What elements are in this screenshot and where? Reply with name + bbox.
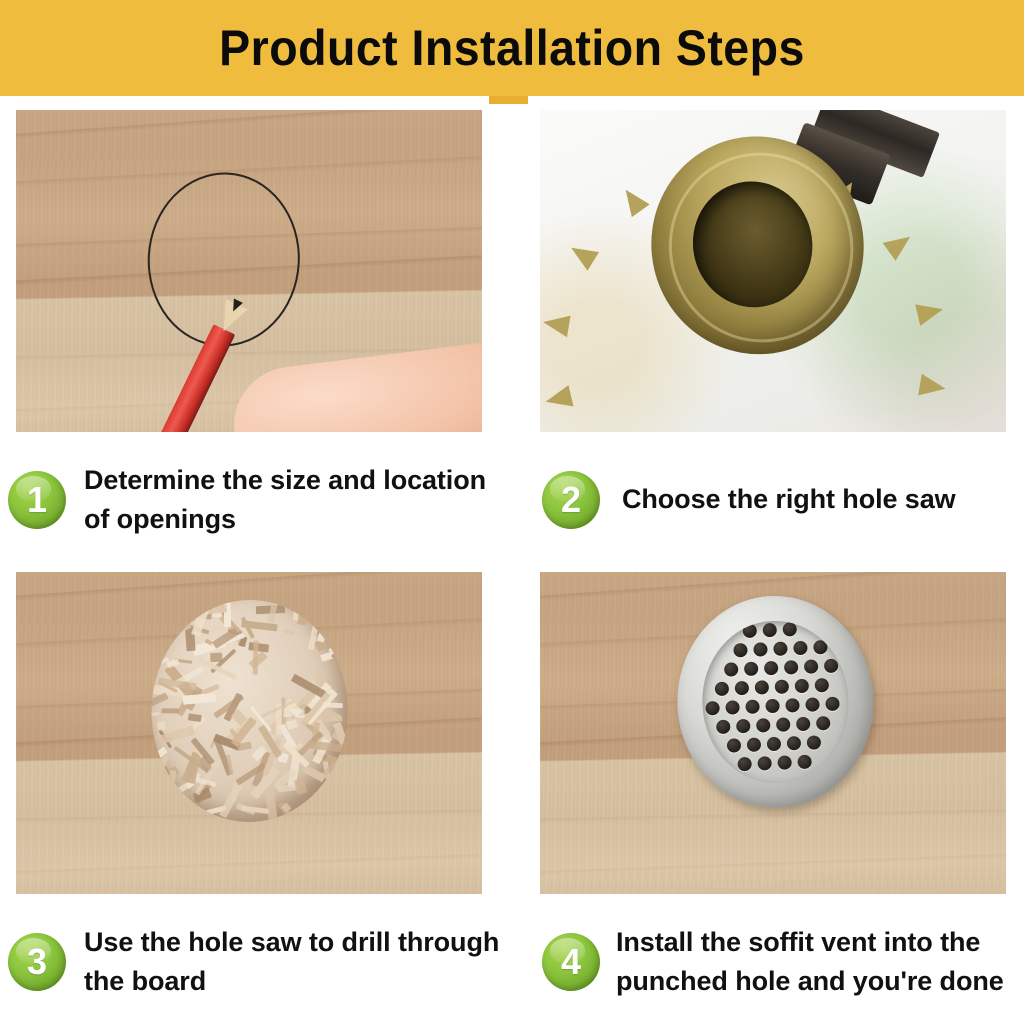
vent-perforation [767, 737, 782, 752]
step-number-1: 1 [27, 482, 47, 518]
step-number-2: 2 [561, 482, 581, 518]
vent-perforation [747, 738, 762, 753]
vent-perforation [775, 680, 790, 695]
step-2-photo [540, 110, 1006, 432]
vent-perforation [783, 623, 798, 638]
vent-perforation [815, 678, 830, 693]
step-number-badge-2: 2 [542, 471, 600, 529]
step-4-photo [540, 572, 1006, 894]
vent-perforation [737, 719, 752, 734]
vent-perforation [826, 697, 841, 712]
vent-perforation [726, 701, 741, 716]
photo-installed-vent [540, 572, 1006, 894]
vent-perforation [717, 720, 732, 735]
vent-perforation [786, 698, 801, 713]
photo-drilled-hole [16, 572, 482, 894]
step-number-badge-1: 1 [8, 471, 66, 529]
step-number-badge-4: 4 [542, 933, 600, 991]
vent-perforation [743, 624, 758, 639]
page-title: Product Installation Steps [36, 0, 988, 96]
step-card-1: 1 Determine the size and location of ope… [0, 96, 512, 558]
vent-perforation [806, 698, 821, 713]
vent-perforation [766, 699, 781, 714]
vent-perforation [787, 736, 802, 751]
vent-perforation [754, 643, 769, 658]
vent-perforation [776, 718, 791, 733]
vent-perforation [724, 663, 739, 678]
vent-perforation [778, 756, 793, 771]
photo-hole-saw [540, 110, 1006, 432]
vent-perforation [744, 662, 759, 677]
vent-perforation [816, 716, 831, 731]
wood-chip [161, 708, 178, 713]
step-1-caption: 1 Determine the size and location of ope… [8, 448, 508, 552]
vent-perforation [706, 701, 721, 716]
vent-grille [700, 619, 851, 785]
vent-perforation [796, 717, 811, 732]
vent-perforation [794, 641, 809, 656]
step-card-4: 4 Install the soffit vent into the punch… [512, 558, 1024, 1020]
vent-perforation [807, 736, 822, 751]
wood-chip [157, 721, 166, 731]
vent-perforation [756, 719, 771, 734]
vent-perforation [774, 642, 789, 657]
photo-marking-the-board [16, 110, 482, 432]
vent-perforation [715, 682, 730, 697]
wood-chip [286, 719, 298, 730]
wood-chip [264, 786, 278, 825]
step-2-text: Choose the right hole saw [622, 480, 956, 519]
step-3-caption: 3 Use the hole saw to drill through the … [8, 910, 508, 1014]
vent-perforation [734, 643, 749, 658]
header-banner: Product Installation Steps [0, 0, 1024, 96]
wood-chip [249, 651, 268, 669]
wood-chip [298, 613, 308, 625]
vent-perforation [738, 757, 753, 772]
wood-chip [183, 693, 216, 704]
step-card-3: 3 Use the hole saw to drill through the … [0, 558, 512, 1020]
step-1-text: Determine the size and location of openi… [84, 461, 508, 539]
step-number-4: 4 [561, 944, 581, 980]
step-4-text: Install the soffit vent into the punched… [616, 923, 1024, 1001]
step-3-photo [16, 572, 482, 894]
vent-perforation [784, 661, 799, 676]
vent-perforation [764, 661, 779, 676]
wood-chip [148, 751, 158, 756]
step-4-caption: 4 Install the soffit vent into the punch… [542, 910, 1024, 1014]
step-number-3: 3 [27, 944, 47, 980]
vent-perforation [798, 755, 813, 770]
vent-perforation [814, 640, 829, 655]
step-2-caption: 2 Choose the right hole saw [542, 448, 1024, 552]
installation-steps-grid: 1 Determine the size and location of ope… [0, 96, 1024, 1020]
wood-chip [235, 803, 255, 815]
saw-tooth [918, 374, 947, 400]
vent-perforation [758, 757, 773, 772]
step-3-text: Use the hole saw to drill through the bo… [84, 923, 508, 1001]
saw-tooth [541, 311, 570, 337]
step-card-2: 2 Choose the right hole saw [512, 96, 1024, 558]
vent-perforation [804, 660, 819, 675]
vent-perforation [824, 659, 839, 674]
wood-chip [294, 778, 307, 795]
vent-perforation [746, 700, 761, 715]
step-1-photo [16, 110, 482, 432]
vent-perforation [755, 681, 770, 696]
vent-perforation [795, 679, 810, 694]
wood-chip [219, 783, 242, 819]
wood-chip [284, 628, 295, 635]
vent-perforation [763, 623, 778, 638]
step-number-badge-3: 3 [8, 933, 66, 991]
drilled-hole-with-chips [148, 597, 351, 825]
vent-perforation [727, 739, 742, 754]
vent-perforation [735, 681, 750, 696]
